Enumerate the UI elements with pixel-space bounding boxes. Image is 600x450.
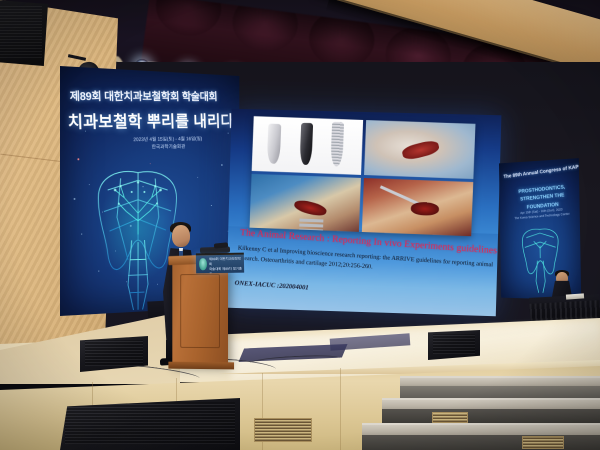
surgical-site-1 [293,198,328,218]
poster-title-line1: 제89회 대한치과보철학회 학술대회 [69,88,239,104]
monitor-grille-foreground [65,402,235,444]
speaker-grille [0,6,42,58]
stair-vent-2 [522,436,564,449]
right-congress-banner: The 89th Annual Congress of KAP PROSTHOD… [499,158,581,300]
stair-riser-mid [382,409,600,423]
stage-panel-seam-4 [340,368,341,450]
photo-surgical-procedure-2 [361,178,473,237]
floor-monitor-foreground [60,398,240,450]
right-banner-line1: The 89th Annual Congress of KAP [503,164,580,180]
stair-riser-bottom [362,435,600,450]
podium-nameplate-sign: 제89회 대한치과보철학회 학술대회 제89차 정기총회 치과보철학 뿌리를 내… [196,253,244,274]
poster-star [221,164,223,166]
podium-panel-inset [180,274,220,348]
photo-bone-specimen [364,120,476,179]
poster-star [228,133,229,134]
implant-fixture-1 [267,123,281,163]
granite-stairs [352,372,600,450]
stage-front-vent [254,418,312,442]
implant-fixture-3 [330,121,344,165]
podium-base [168,362,234,370]
poster-title-line2: 치과보철학 뿌리를 내리다 [67,108,239,133]
podium-sign-line2: 학술대회 제89차 정기총회 [209,267,242,274]
poster-star [197,177,198,178]
photo-dental-implant-fixtures [252,116,363,174]
poster-star [77,158,79,160]
stair-riser-top [400,386,600,398]
tissue-region [401,138,441,161]
photo-surgical-procedure-1 [250,173,361,231]
lectern-podium [172,262,228,365]
podium-sign-logo-icon [199,258,207,270]
monitor-grille-left [85,340,143,366]
implant-fixture-2 [300,122,314,164]
poster-date-block: 2023년 4월 15일(토) - 4월 16일(일) 한국과학기술회관 [100,136,233,153]
conference-stage-photo: 제89회 대한치과보철학회 학술대회 치과보철학 뿌리를 내리다 2023년 4… [0,0,600,450]
monitor-grille-right [433,334,475,354]
poster-star [211,205,212,206]
presenting-speaker-head [172,225,190,247]
floor-monitor-right [428,330,480,360]
surgical-site-2 [410,202,439,216]
stair-vent-1 [432,412,468,423]
slide-photo-grid [250,116,476,236]
main-projection-screen: The Animal Research : Reporting In vivo … [226,109,501,316]
line-array-speaker [0,0,48,66]
podium-sign-text: 제89회 대한치과보철학회 학술대회 제89차 정기총회 치과보철학 뿌리를 내… [209,257,243,274]
poster-star [74,198,76,200]
retractor-icon [300,219,324,223]
